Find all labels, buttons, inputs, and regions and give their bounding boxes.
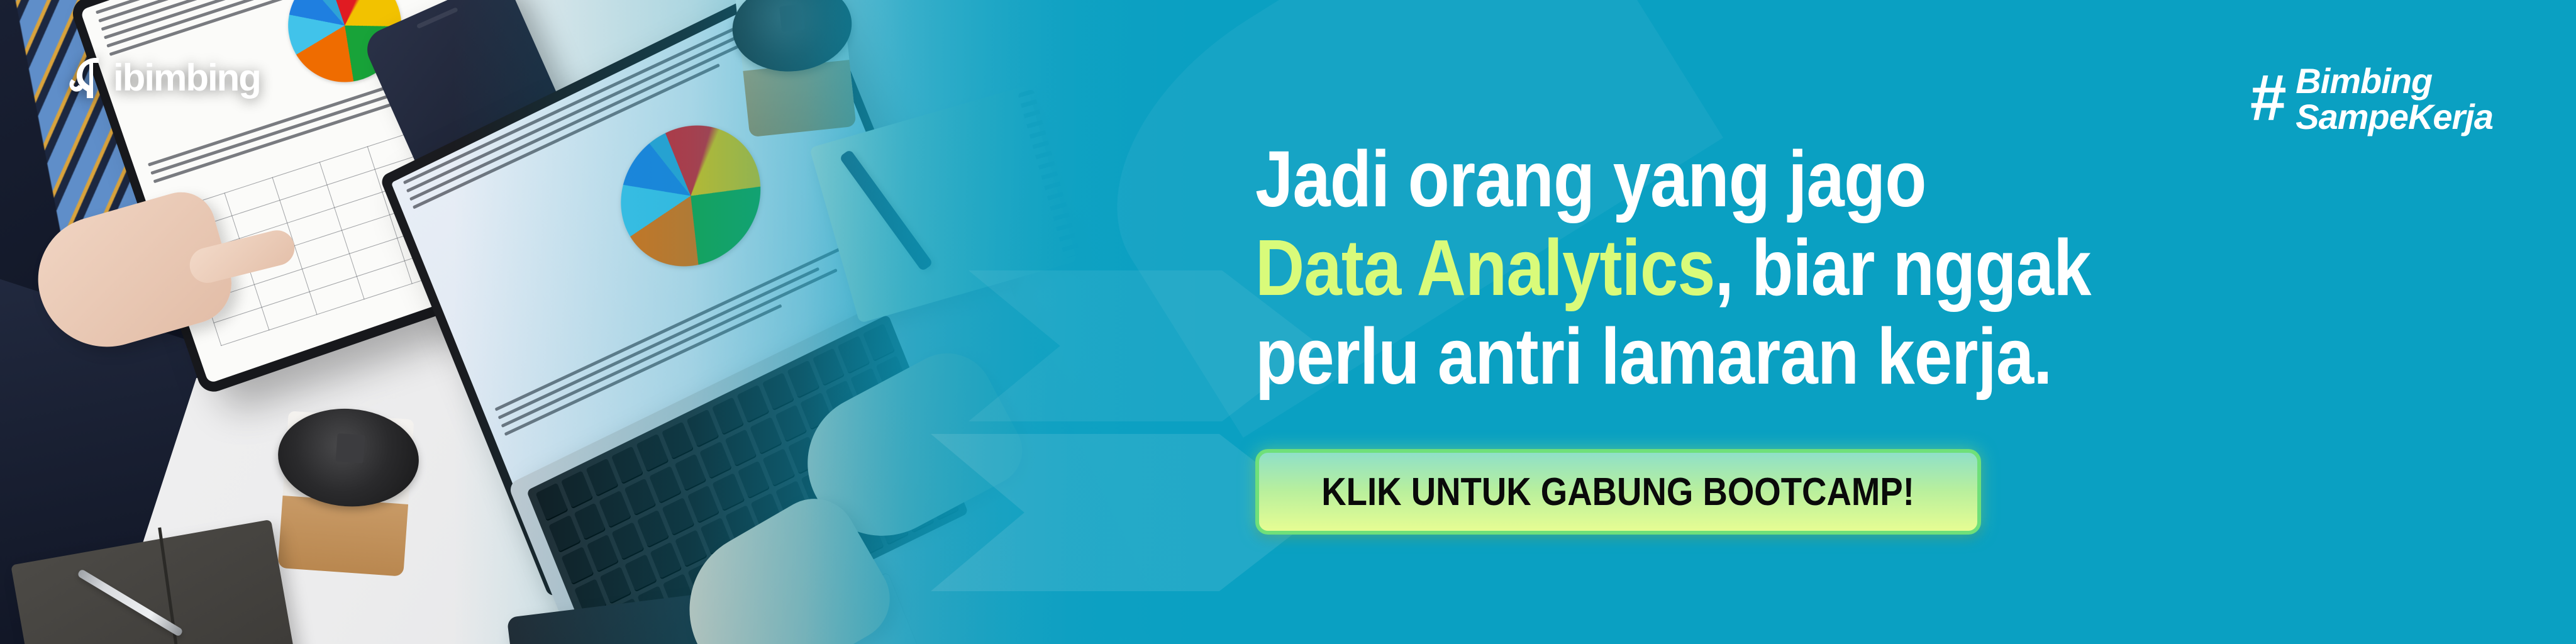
headline-line-2-rest: , biar nggak — [1715, 223, 2091, 312]
hashtag-line-1: Bimbing — [2296, 63, 2493, 99]
promo-banner: ibimbing # Bimbing SampeKerja Jadi orang… — [0, 0, 2576, 644]
hashtag-line-2: SampeKerja — [2296, 99, 2493, 135]
hashtag-words: Bimbing SampeKerja — [2296, 63, 2493, 135]
headline-text: Jadi orang yang jago Data Analytics, bia… — [1255, 135, 2229, 401]
headline-block: Jadi orang yang jago Data Analytics, bia… — [1255, 135, 2387, 401]
hashtag-bimbing-sampe-kerja: # Bimbing SampeKerja — [2249, 63, 2493, 135]
headline-line-2: Data Analytics, biar nggak — [1255, 223, 2229, 312]
headline-accent: Data Analytics — [1255, 223, 1715, 312]
ibimbing-logo[interactable]: ibimbing — [68, 55, 260, 101]
cta-join-bootcamp-button[interactable]: KLIK UNTUK GABUNG BOOTCAMP! — [1255, 449, 1981, 535]
headline-line-1: Jadi orang yang jago — [1255, 135, 2229, 223]
hash-icon: # — [2249, 72, 2283, 125]
headline-line-3: perlu antri lamaran kerja. — [1255, 312, 2229, 401]
cta-label: KLIK UNTUK GABUNG BOOTCAMP! — [1322, 470, 1915, 514]
ibimbing-wordmark: ibimbing — [113, 59, 260, 97]
ibimbing-pin-mark-icon — [68, 55, 107, 101]
